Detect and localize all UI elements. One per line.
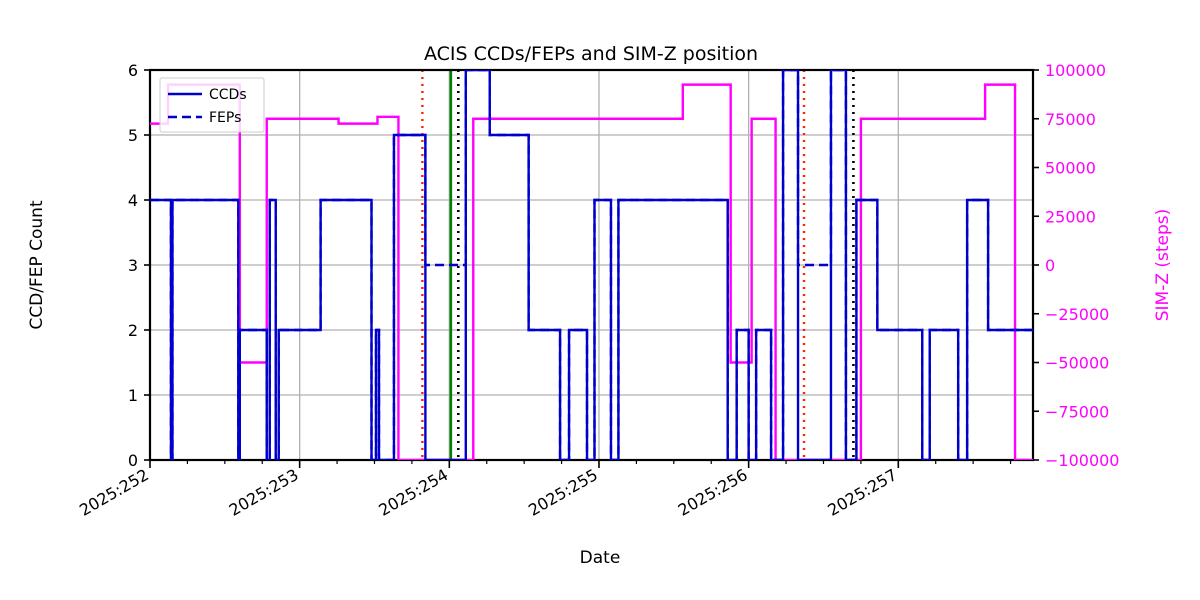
chart-title: ACIS CCDs/FEPs and SIM-Z position [424,43,758,65]
y-ticklabel-right: 100000 [1045,61,1106,80]
y-ticklabel-left: 1 [128,386,138,405]
y-ticklabel-left: 5 [128,126,138,145]
chart-figure: ACIS CCDs/FEPs and SIM-Z position 012345… [0,0,1200,600]
chart-legend: CCDs FEPs [160,78,264,132]
y-ticklabel-right: −25000 [1045,305,1109,324]
y-ticklabel-right: −50000 [1045,354,1109,373]
y-ticklabel-left: 6 [128,61,138,80]
y-ticklabel-left: 0 [128,451,138,470]
x-axis-label: Date [580,548,621,568]
legend-label-ccds: CCDs [209,87,247,103]
y-ticklabel-right: −100000 [1045,451,1119,470]
y-ticklabel-right: 0 [1045,256,1055,275]
y-ticklabel-right: 75000 [1045,110,1096,129]
y-axis-left-label: CCD/FEP Count [27,200,47,330]
y-ticklabel-right: 50000 [1045,159,1096,178]
y-ticklabel-left: 3 [128,256,138,275]
y-ticklabel-right: 25000 [1045,207,1096,226]
chart-svg: ACIS CCDs/FEPs and SIM-Z position 012345… [0,0,1200,600]
y-ticklabel-left: 4 [128,191,138,210]
y-ticklabel-right: −75000 [1045,402,1109,421]
y-axis-right-label: SIM-Z (steps) [1153,209,1173,322]
y-ticklabel-left: 2 [128,321,138,340]
legend-label-feps: FEPs [209,110,241,126]
